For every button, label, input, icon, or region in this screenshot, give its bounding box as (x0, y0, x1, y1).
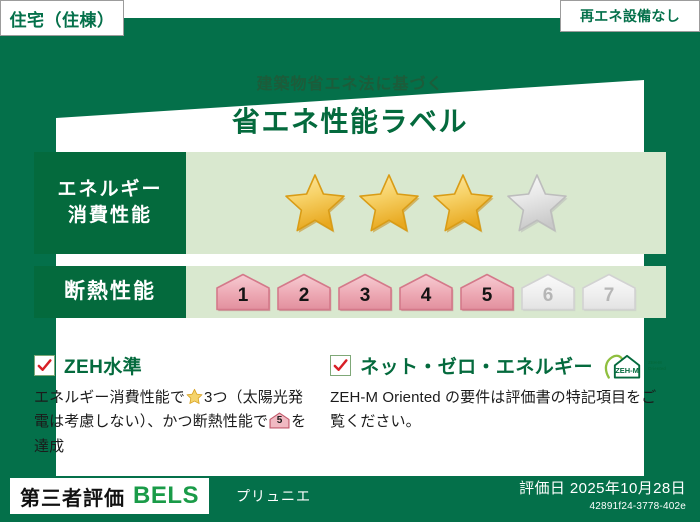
building-type-tag-label: 住宅（住棟） (10, 6, 115, 31)
grade-number: 5 (482, 285, 493, 312)
renewable-equipment-tag: 再エネ設備なし (560, 0, 700, 32)
house-icon: 1 (214, 272, 272, 312)
check-icon (330, 355, 351, 376)
grade-number: 1 (238, 285, 249, 312)
house-icon: 7 (580, 272, 638, 312)
net-zero-energy-title: ネット・ゼロ・エネルギー (360, 352, 593, 379)
zeh-m-house-icon: ZEH-M ZEH-M Oriented (604, 353, 666, 379)
zeh-standard-section: ZEH水準 エネルギー消費性能で 3つ（太陽光発電は考慮しない）、かつ断熱性能で… (34, 352, 308, 459)
grade-number: 4 (421, 285, 432, 312)
insulation-performance-label: 断熱性能 (34, 266, 186, 318)
zeh-standard-body: エネルギー消費性能で 3つ（太陽光発電は考慮しない）、かつ断熱性能で 5 を達成 (34, 386, 308, 459)
net-zero-energy-section: ネット・ゼロ・エネルギー ZEH-M ZEH-M Oriented ZEH-M … (330, 352, 666, 459)
company-name: プリュニエ (236, 486, 311, 506)
evaluation-date: 評価日 2025年10月28日 (519, 477, 686, 498)
renewable-equipment-tag-label: 再エネ設備なし (580, 6, 680, 26)
net-zero-energy-body: ZEH-M Oriented の要件は評価書の特記項目をご覧ください。 (330, 386, 666, 435)
grade-number: 3 (360, 285, 371, 312)
star-icon (431, 172, 495, 234)
zeh-standard-header: ZEH水準 (34, 352, 308, 379)
zeh-m-logo-text: ZEH-M (615, 365, 639, 374)
energy-label-line2: 消費性能 (57, 203, 162, 229)
house-icon: 4 (397, 272, 455, 312)
energy-label-line1: エネルギー (57, 177, 162, 203)
insulation-label-text: 断熱性能 (64, 278, 156, 306)
zeh-m-logo-subtext: ZEH-M Oriented (648, 360, 666, 371)
house-icon: 2 (275, 272, 333, 312)
house-icon: 6 (519, 272, 577, 312)
zeh-m-sub-line1: ZEH-M (648, 360, 662, 365)
certificate-id: 42891f24-3778-402e (519, 501, 686, 512)
zeh-m-sub-line2: Oriented (648, 366, 666, 371)
grade-number: 2 (299, 285, 310, 312)
energy-consumption-label: エネルギー 消費性能 (34, 152, 186, 254)
star-rating-panel (186, 152, 666, 254)
bels-badge-jp: 第三者評価 (20, 482, 125, 511)
house-icon: 3 (336, 272, 394, 312)
info-sections: ZEH水準 エネルギー消費性能で 3つ（太陽光発電は考慮しない）、かつ断熱性能で… (34, 352, 666, 459)
house-icon-value: 5 (269, 413, 290, 429)
star-icon (357, 172, 421, 234)
grade-scale-panel: 1234567 (186, 266, 666, 318)
footer-meta: 評価日 2025年10月28日 42891f24-3778-402e (519, 477, 686, 512)
bels-badge-en: BELS (133, 482, 199, 510)
bels-badge: 第三者評価 BELS (10, 478, 209, 514)
net-zero-energy-header: ネット・ゼロ・エネルギー ZEH-M ZEH-M Oriented (330, 352, 666, 379)
building-type-tag: 住宅（住棟） (0, 0, 124, 36)
energy-performance-label: 住宅（住棟） 再エネ設備なし 建築物省エネ法に基づく 省エネ性能ラベル エネルギ… (0, 0, 700, 522)
insulation-performance-row: 断熱性能 1234567 (34, 266, 666, 318)
zeh-standard-title: ZEH水準 (64, 352, 142, 379)
star-icon (283, 172, 347, 234)
zeh-body-part1: エネルギー消費性能で (34, 389, 185, 406)
star-icon (505, 172, 569, 234)
house-icon: 5 (269, 412, 290, 429)
rating-rows: エネルギー 消費性能 断熱性能 1234567 (34, 152, 666, 318)
star-icon (186, 388, 203, 405)
energy-consumption-row: エネルギー 消費性能 (34, 152, 666, 254)
grade-number: 7 (604, 285, 615, 312)
house-icon: 5 (458, 272, 516, 312)
grade-number: 6 (543, 285, 554, 312)
check-icon (34, 355, 55, 376)
